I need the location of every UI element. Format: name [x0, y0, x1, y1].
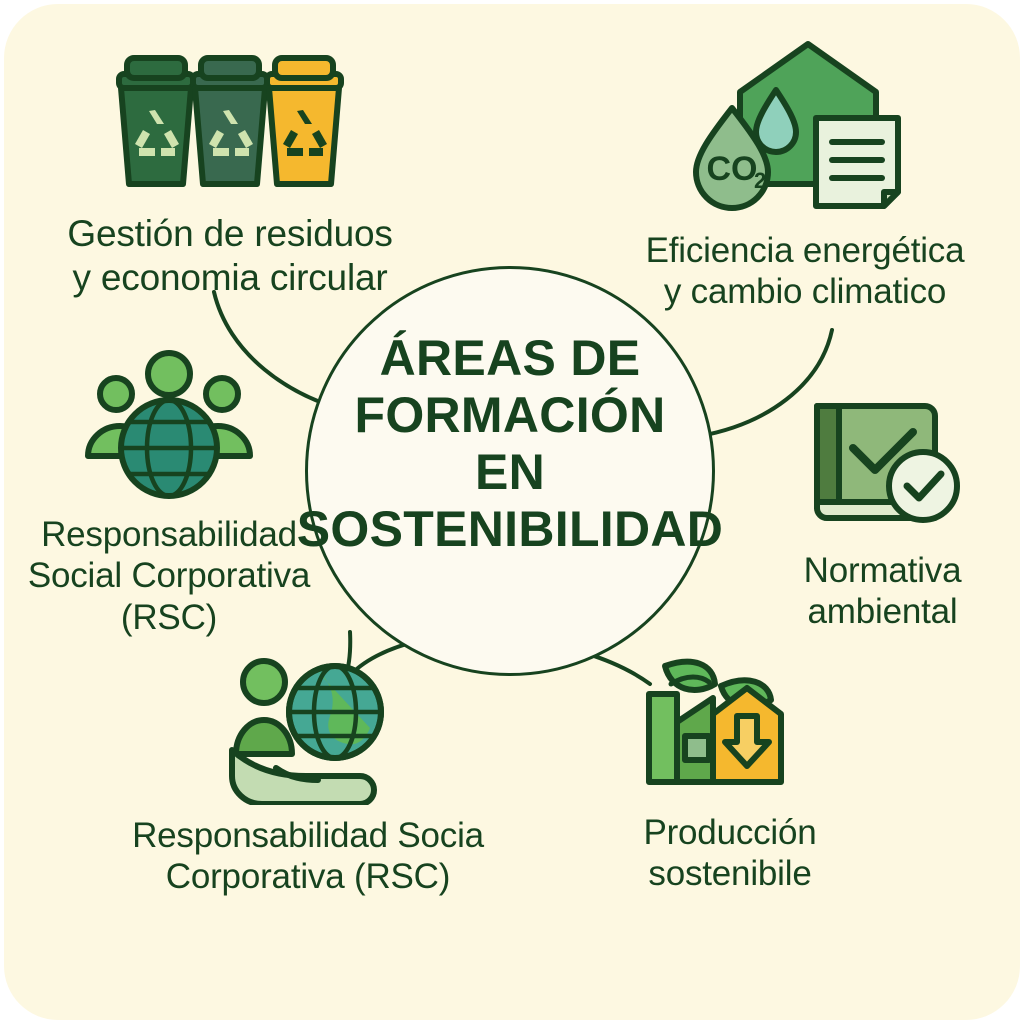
co2-icon-text: CO — [707, 150, 758, 188]
book-check-icon — [795, 390, 970, 540]
recycling-bins-icon — [105, 44, 355, 204]
people-globe-icon — [74, 348, 264, 508]
page-title: ÁREAS DE FORMACIÓN EN SOSTENIBILIDAD — [288, 330, 732, 558]
infographic-canvas: ÁREAS DE FORMACIÓN EN SOSTENIBILIDAD — [0, 0, 1024, 1024]
node-waste-management[interactable]: Gestión de residuos y economia circular — [20, 44, 440, 299]
node-label-rsc-top: Responsabilidad Social Corporativa (RSC) — [4, 514, 334, 638]
node-label-waste: Gestión de residuos y economia circular — [20, 212, 440, 299]
factory-leaves-icon — [635, 650, 825, 800]
node-environmental-regulation[interactable]: Normativa ambiental — [750, 390, 1015, 633]
node-rsc-corporate[interactable]: Responsabilidad Social Corporativa (RSC) — [4, 348, 334, 638]
hand-globe-person-icon — [218, 650, 398, 805]
node-label-norm: Normativa ambiental — [750, 550, 1015, 633]
node-label-rsc-bottom: Responsabilidad Socia Corporativa (RSC) — [98, 815, 518, 898]
node-energy-efficiency[interactable]: CO 2 Eficiencia energética y cambio clim… — [600, 34, 1010, 313]
node-label-energy: Eficiencia energética y cambio climatico — [600, 230, 1010, 313]
node-sustainable-production[interactable]: Producción sostenibile — [590, 650, 870, 895]
co2-subscript: 2 — [754, 168, 766, 193]
house-co2-document-icon: CO 2 — [680, 34, 930, 224]
node-rsc-corporate-bottom[interactable]: Responsabilidad Socia Corporativa (RSC) — [98, 650, 518, 898]
node-label-prod: Producción sostenibile — [590, 812, 870, 895]
